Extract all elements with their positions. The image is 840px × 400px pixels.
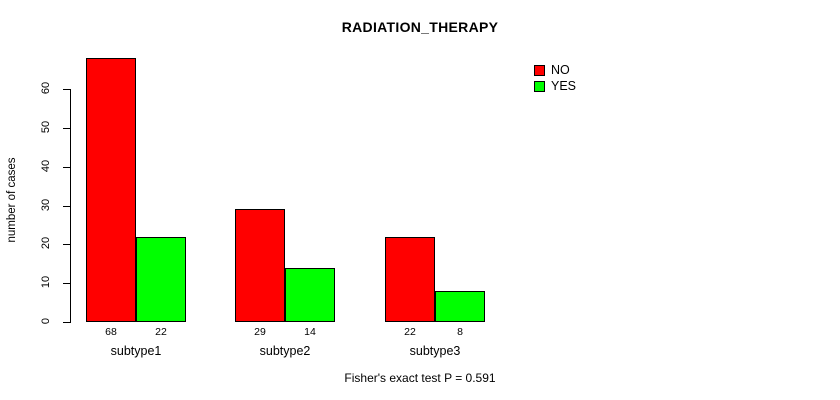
y-tick-mark [63,167,70,168]
statistical-test-annotation: Fisher's exact test P = 0.591 [0,371,840,385]
y-tick-label: 30 [35,199,57,213]
y-tick-label-text: 40 [40,155,52,177]
y-axis-line [70,89,71,323]
bar-subtype3-no [385,237,435,322]
bar-value-label: 8 [435,326,485,338]
y-tick-label-text: 0 [40,310,52,332]
x-axis-group-label-subtype1: subtype1 [86,344,186,358]
legend: NOYES [534,62,576,94]
x-axis-group-label-subtype3: subtype3 [385,344,485,358]
y-tick-label: 40 [35,160,57,174]
y-tick-label: 50 [35,121,57,135]
bar-value-label: 29 [235,326,285,338]
y-axis-title: number of cases [6,140,18,260]
x-axis-group-label-subtype2: subtype2 [235,344,335,358]
y-tick-label: 20 [35,237,57,251]
legend-swatch-no [534,65,545,76]
bar-subtype2-yes [285,268,335,322]
bar-subtype1-no [86,58,136,322]
y-tick-label-text: 10 [40,271,52,293]
y-tick-mark [63,128,70,129]
y-tick-mark [63,89,70,90]
legend-label-text: NO [551,64,570,76]
bar-value-label: 22 [136,326,186,338]
y-tick-label: 60 [35,82,57,96]
bar-subtype3-yes [435,291,485,322]
bar-subtype2-no [235,209,285,322]
legend-swatch-yes [534,81,545,92]
y-tick-mark [63,244,70,245]
y-tick-label-text: 60 [40,77,52,99]
bar-value-label: 14 [285,326,335,338]
y-tick-label-text: 50 [40,116,52,138]
y-tick-mark [63,283,70,284]
bar-chart-figure: RADIATION_THERAPY number of cases 010203… [0,0,840,400]
bar-value-label: 68 [86,326,136,338]
bar-value-label: 22 [385,326,435,338]
y-tick-mark [63,322,70,323]
bar-subtype1-yes [136,237,186,322]
y-tick-label: 0 [35,315,57,329]
y-tick-label-text: 30 [40,194,52,216]
page-title: RADIATION_THERAPY [0,19,840,35]
y-tick-label: 10 [35,276,57,290]
y-tick-label-text: 20 [40,232,52,254]
y-tick-mark [63,206,70,207]
legend-label-text: YES [551,80,576,92]
legend-item-no: NO [534,62,576,78]
legend-item-yes: YES [534,78,576,94]
